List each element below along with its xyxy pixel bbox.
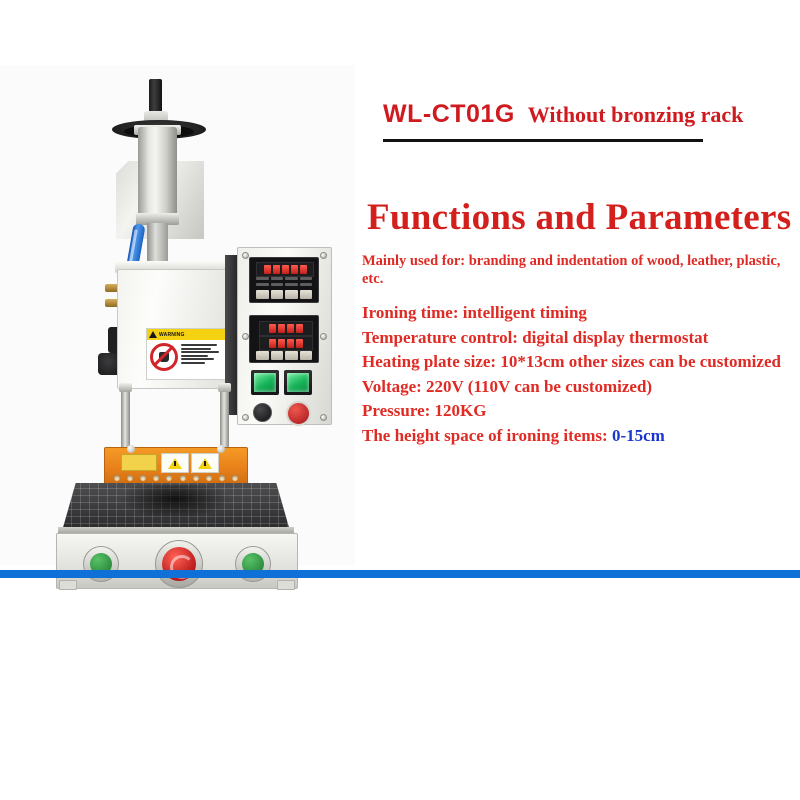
product-title: WL-CT01G Without bronzing rack: [383, 100, 743, 129]
pneumatic-cylinder: [138, 127, 177, 223]
spec-list: Mainly used for: branding and indentatio…: [362, 252, 798, 448]
base-foot: [59, 580, 77, 590]
timer-legend: [256, 283, 312, 287]
red-emergency-stop[interactable]: [155, 540, 203, 588]
thermostat-pv-display: [259, 321, 313, 336]
pinch-point-warning-sticker: [191, 453, 219, 473]
spec-item-height-space: The height space of ironing items: 0-15c…: [362, 424, 798, 448]
panel-screw: [320, 252, 327, 259]
green-rocker-switch[interactable]: [284, 370, 312, 395]
timer-legend: [256, 277, 312, 281]
thermostat-buttons[interactable]: [256, 351, 312, 360]
head-housing: WARNING: [117, 269, 237, 389]
bracket-bolt: [217, 445, 225, 453]
timer-display: [256, 262, 314, 277]
timer-module[interactable]: [249, 257, 319, 303]
product-photo: WARNING: [0, 65, 355, 565]
bracket-bolt: [127, 445, 135, 453]
machine-base: [56, 533, 298, 589]
thermostat-sv-display: [259, 336, 313, 351]
section-heading: Functions and Parameters: [367, 196, 791, 239]
heating-plate-bracket: [104, 447, 248, 487]
warning-triangle-icon: [168, 458, 182, 469]
spec-item-plate-size: Heating plate size: 10*13cm other sizes …: [362, 350, 798, 374]
spec-item-voltage: Voltage: 220V (110V can be customized): [362, 375, 798, 399]
hand-glyph: [159, 352, 169, 362]
warning-triangle-icon: [149, 331, 157, 338]
spec-item-ironing-time: Ironing time: intelligent timing: [362, 301, 798, 325]
timer-buttons[interactable]: [256, 290, 312, 299]
model-variant: Without bronzing rack: [528, 102, 744, 128]
bracket-brand-label: [121, 454, 157, 471]
emergency-stop-small[interactable]: [286, 401, 311, 426]
base-foot: [277, 580, 295, 590]
warning-label: WARNING: [146, 328, 226, 380]
spec-item-temperature: Temperature control: digital display the…: [362, 326, 798, 350]
selector-knob[interactable]: [253, 403, 272, 422]
spec-lead: Mainly used for: branding and indentatio…: [362, 252, 798, 288]
blue-divider: [0, 570, 800, 578]
panel-screw: [320, 414, 327, 421]
product-spec-page: WARNING: [0, 0, 800, 800]
spec-item-pressure: Pressure: 120KG: [362, 399, 798, 423]
warning-banner: WARNING: [147, 329, 225, 340]
no-hands-icon: [150, 343, 178, 371]
panel-screw: [320, 333, 327, 340]
table-shadow: [120, 485, 230, 519]
warning-body: [147, 340, 225, 374]
height-space-value: 0-15cm: [612, 426, 665, 445]
panel-screw: [242, 252, 249, 259]
product-photo-panel: WARNING: [0, 65, 355, 565]
panel-screw: [242, 333, 249, 340]
guide-post-cap: [119, 383, 132, 392]
warning-triangle-icon: [198, 458, 212, 469]
warning-text-lines: [181, 343, 222, 371]
panel-screw: [242, 414, 249, 421]
title-underline: [383, 139, 703, 142]
warning-banner-text: WARNING: [159, 332, 185, 338]
green-rocker-switch[interactable]: [251, 370, 279, 395]
guide-post-cap: [218, 383, 231, 392]
thermostat-module[interactable]: [249, 315, 319, 363]
height-space-label: The height space of ironing items:: [362, 426, 612, 445]
hot-surface-warning-sticker: [161, 453, 189, 473]
hot-stamping-machine: WARNING: [20, 65, 330, 565]
bracket-hole-row: [105, 474, 247, 482]
model-number: WL-CT01G: [383, 100, 515, 129]
